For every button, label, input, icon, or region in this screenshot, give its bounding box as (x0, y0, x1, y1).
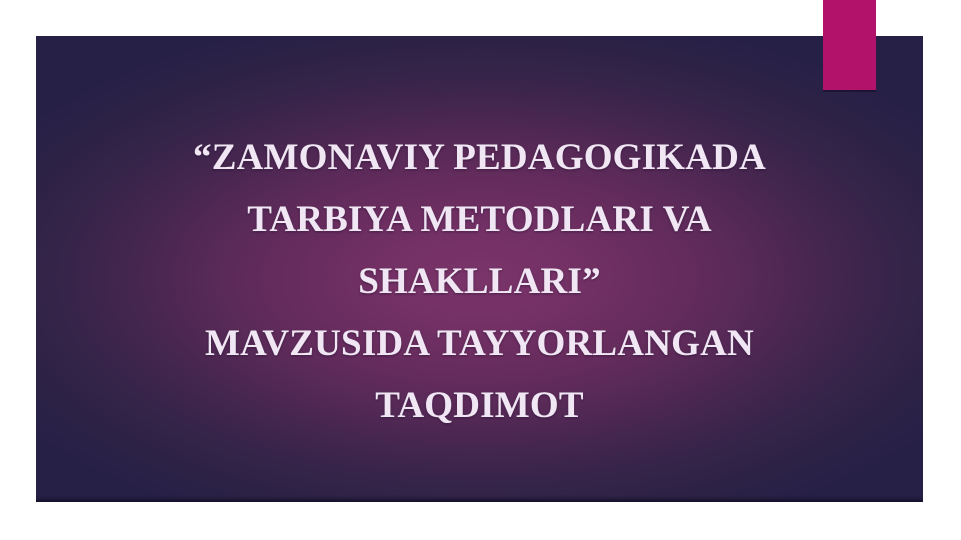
title-line-4: MAVZUSIDA TAYYORLANGAN (36, 313, 923, 375)
title-line-2: TARBIYA METODLARI VA (36, 189, 923, 251)
slide-title-textbox[interactable]: “ZAMONAVIY PEDAGOGIKADA TARBIYA METODLAR… (36, 36, 923, 502)
title-line-5: TAQDIMOT (36, 375, 923, 437)
slide-canvas: “ZAMONAVIY PEDAGOGIKADA TARBIYA METODLAR… (0, 0, 961, 540)
title-line-3: SHAKLLARI” (36, 251, 923, 313)
title-line-1: “ZAMONAVIY PEDAGOGIKADA (36, 127, 923, 189)
